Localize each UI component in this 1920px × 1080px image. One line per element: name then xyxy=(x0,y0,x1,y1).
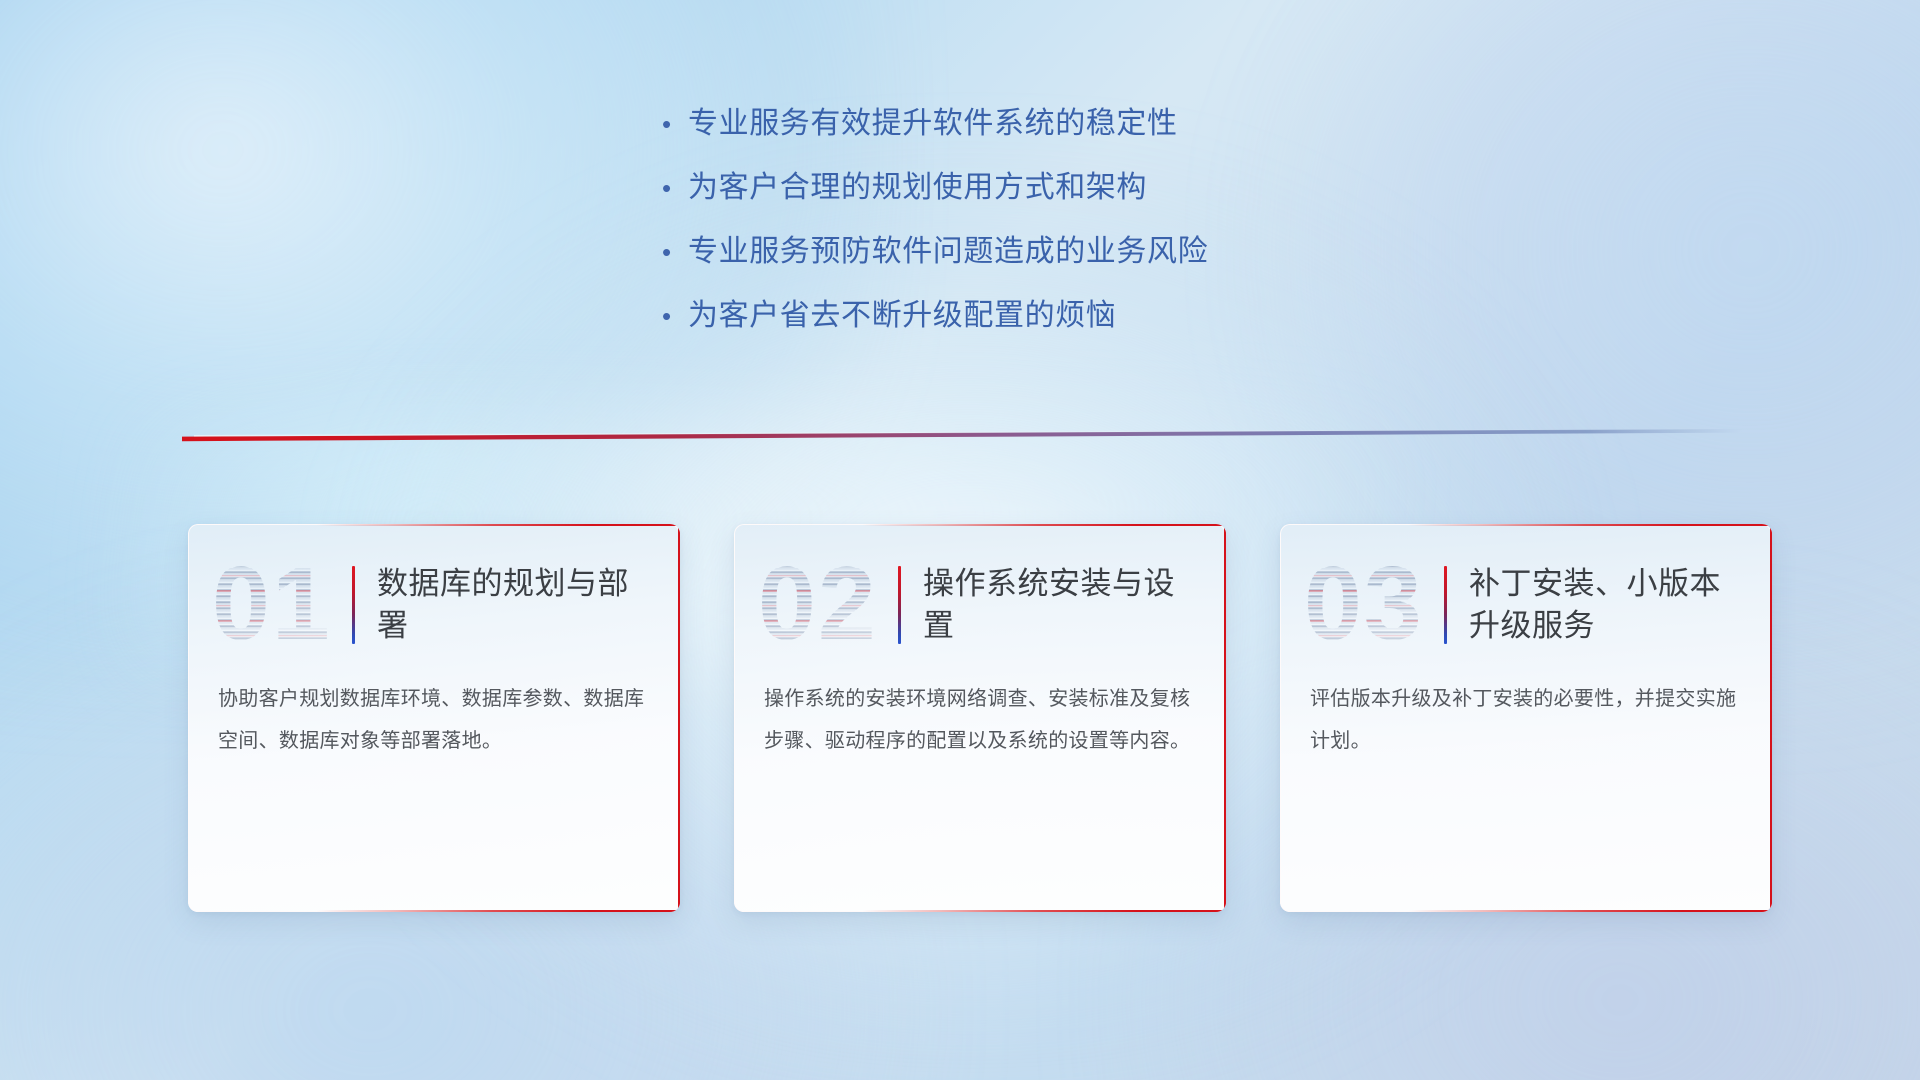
bullet-text: 为客户合理的规划使用方式和架构 xyxy=(688,168,1147,208)
card-header: 03 补丁安装、小版本升级服务 xyxy=(1280,524,1772,672)
bullet-text: 专业服务有效提升软件系统的稳定性 xyxy=(688,104,1178,144)
service-card[interactable]: 01 数据库的规划与部署 协助客户规划数据库环境、数据库参数、数据库空间、数据库… xyxy=(188,524,680,912)
list-item: • 为客户合理的规划使用方式和架构 xyxy=(660,168,1560,232)
list-item: • 专业服务预防软件问题造成的业务风险 xyxy=(660,232,1560,296)
service-card[interactable]: 02 操作系统安装与设置 操作系统的安装环境网络调查、安装标准及复核步骤、驱动程… xyxy=(734,524,1226,912)
card-description: 操作系统的安装环境网络调查、安装标准及复核步骤、驱动程序的配置以及系统的设置等内… xyxy=(734,672,1226,762)
card-header: 01 数据库的规划与部署 xyxy=(188,524,680,672)
bullet-dot-icon: • xyxy=(660,168,688,208)
card-number-03: 03 xyxy=(1302,553,1434,657)
bullet-dot-icon: • xyxy=(660,104,688,144)
card-separator-bar xyxy=(1444,566,1447,644)
card-title: 补丁安装、小版本升级服务 xyxy=(1469,563,1746,647)
card-separator-bar xyxy=(352,566,355,644)
card-separator-bar xyxy=(898,566,901,644)
card-title: 数据库的规划与部署 xyxy=(377,563,654,647)
service-card[interactable]: 03 补丁安装、小版本升级服务 评估版本升级及补丁安装的必要性，并提交实施计划。 xyxy=(1280,524,1772,912)
card-header: 02 操作系统安装与设置 xyxy=(734,524,1226,672)
card-number-02: 02 xyxy=(756,553,888,657)
card-description: 评估版本升级及补丁安装的必要性，并提交实施计划。 xyxy=(1280,672,1772,762)
bullet-dot-icon: • xyxy=(660,296,688,336)
benefits-bullet-list: • 专业服务有效提升软件系统的稳定性 • 为客户合理的规划使用方式和架构 • 专… xyxy=(660,104,1560,360)
card-description: 协助客户规划数据库环境、数据库参数、数据库空间、数据库对象等部署落地。 xyxy=(188,672,680,762)
card-title: 操作系统安装与设置 xyxy=(923,563,1200,647)
bullet-dot-icon: • xyxy=(660,232,688,272)
list-item: • 专业服务有效提升软件系统的稳定性 xyxy=(660,104,1560,168)
slide-canvas: • 专业服务有效提升软件系统的稳定性 • 为客户合理的规划使用方式和架构 • 专… xyxy=(0,0,1920,1080)
bullet-text: 为客户省去不断升级配置的烦恼 xyxy=(688,296,1116,336)
list-item: • 为客户省去不断升级配置的烦恼 xyxy=(660,296,1560,360)
bullet-text: 专业服务预防软件问题造成的业务风险 xyxy=(688,232,1208,272)
service-card-row: 01 数据库的规划与部署 协助客户规划数据库环境、数据库参数、数据库空间、数据库… xyxy=(188,524,1772,912)
card-number-01: 01 xyxy=(210,553,342,657)
